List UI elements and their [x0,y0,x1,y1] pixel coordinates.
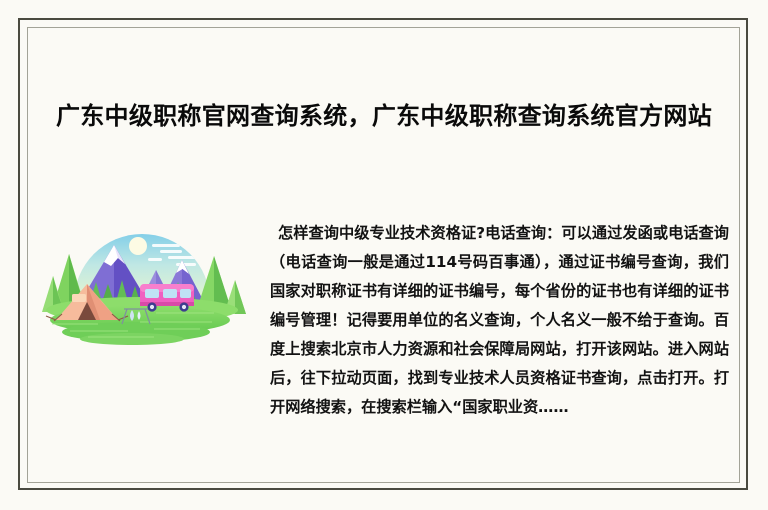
camping-scene-illustration [36,198,248,348]
page-title: 广东中级职称官网查询系统，广东中级职称查询系统官方网站 [52,99,716,134]
sun-icon [129,237,147,255]
article-paragraph: 怎样查询中级专业技术资格证?电话查询：可以通过发函或电话查询（电话查询一般是通过… [270,219,729,422]
page-root: 广东中级职称官网查询系统，广东中级职称查询系统官方网站 [0,0,768,510]
article-content: 怎样查询中级专业技术资格证?电话查询：可以通过发函或电话查询（电话查询一般是通过… [0,190,768,460]
